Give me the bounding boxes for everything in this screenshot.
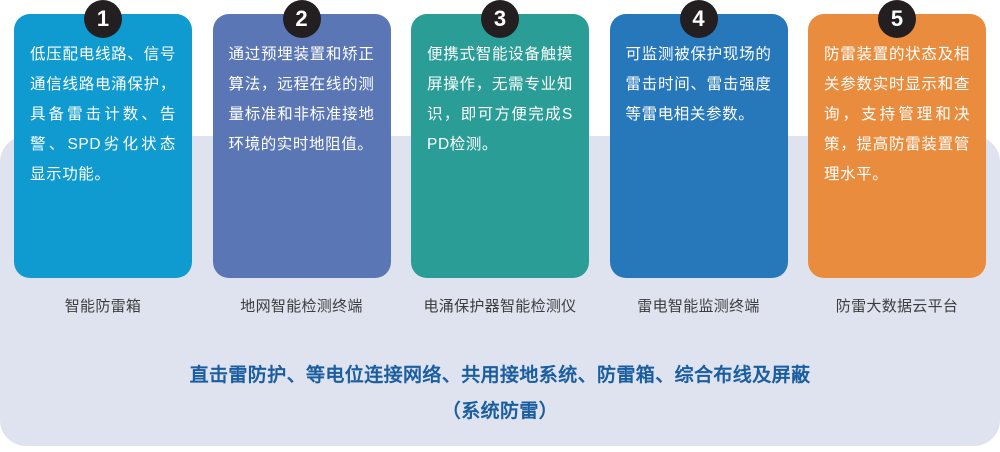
card-description-1: 低压配电线路、信号通信线路电涌保护，具备雷击计数、告警、SPD劣化状态显示功能。	[30, 40, 176, 190]
footer-line-1: 直击雷防护、等电位连接网络、共用接地系统、防雷箱、综合布线及屏蔽	[0, 358, 1000, 394]
feature-card-2[interactable]: 2 通过预埋装置和矫正算法，远程在线的测量标准和非标准接地环境的实时地阻值。	[213, 14, 391, 278]
card-number-badge-4: 4	[680, 0, 718, 38]
card-body-2[interactable]: 通过预埋装置和矫正算法，远程在线的测量标准和非标准接地环境的实时地阻值。	[213, 14, 391, 278]
feature-cards-row: 1 低压配电线路、信号通信线路电涌保护，具备雷击计数、告警、SPD劣化状态显示功…	[0, 14, 1000, 278]
card-number-badge-3: 3	[481, 0, 519, 38]
card-body-4[interactable]: 可监测被保护现场的雷击时间、雷击强度等雷电相关参数。	[610, 14, 788, 278]
feature-card-5[interactable]: 5 防雷装置的状态及相关参数实时显示和查询，支持管理和决策，提高防雷装置管理水平…	[808, 14, 986, 278]
card-captions-row: 智能防雷箱 地网智能检测终端 电涌保护器智能检测仪 雷电智能监测终端 防雷大数据…	[0, 292, 1000, 322]
card-description-5: 防雷装置的状态及相关参数实时显示和查询，支持管理和决策，提高防雷装置管理水平。	[824, 40, 970, 190]
footer-summary: 直击雷防护、等电位连接网络、共用接地系统、防雷箱、综合布线及屏蔽 （系统防雷）	[0, 358, 1000, 430]
card-caption-1: 智能防雷箱	[14, 292, 192, 322]
card-description-2: 通过预埋装置和矫正算法，远程在线的测量标准和非标准接地环境的实时地阻值。	[229, 40, 375, 160]
infographic-root: 1 低压配电线路、信号通信线路电涌保护，具备雷击计数、告警、SPD劣化状态显示功…	[0, 0, 1000, 452]
card-caption-4: 雷电智能监测终端	[610, 292, 788, 322]
card-caption-5: 防雷大数据云平台	[808, 292, 986, 322]
card-description-3: 便携式智能设备触摸屏操作，无需专业知识，即可方便完成SPD检测。	[427, 40, 573, 160]
card-number-badge-1: 1	[84, 0, 122, 38]
feature-card-1[interactable]: 1 低压配电线路、信号通信线路电涌保护，具备雷击计数、告警、SPD劣化状态显示功…	[14, 14, 192, 278]
card-number-badge-2: 2	[283, 0, 321, 38]
card-body-3[interactable]: 便携式智能设备触摸屏操作，无需专业知识，即可方便完成SPD检测。	[411, 14, 589, 278]
card-number-badge-5: 5	[878, 0, 916, 38]
feature-card-3[interactable]: 3 便携式智能设备触摸屏操作，无需专业知识，即可方便完成SPD检测。	[411, 14, 589, 278]
card-body-1[interactable]: 低压配电线路、信号通信线路电涌保护，具备雷击计数、告警、SPD劣化状态显示功能。	[14, 14, 192, 278]
card-caption-3: 电涌保护器智能检测仪	[411, 292, 589, 322]
card-caption-2: 地网智能检测终端	[213, 292, 391, 322]
card-body-5[interactable]: 防雷装置的状态及相关参数实时显示和查询，支持管理和决策，提高防雷装置管理水平。	[808, 14, 986, 278]
footer-line-2: （系统防雷）	[0, 394, 1000, 430]
card-description-4: 可监测被保护现场的雷击时间、雷击强度等雷电相关参数。	[626, 40, 772, 130]
feature-card-4[interactable]: 4 可监测被保护现场的雷击时间、雷击强度等雷电相关参数。	[610, 14, 788, 278]
